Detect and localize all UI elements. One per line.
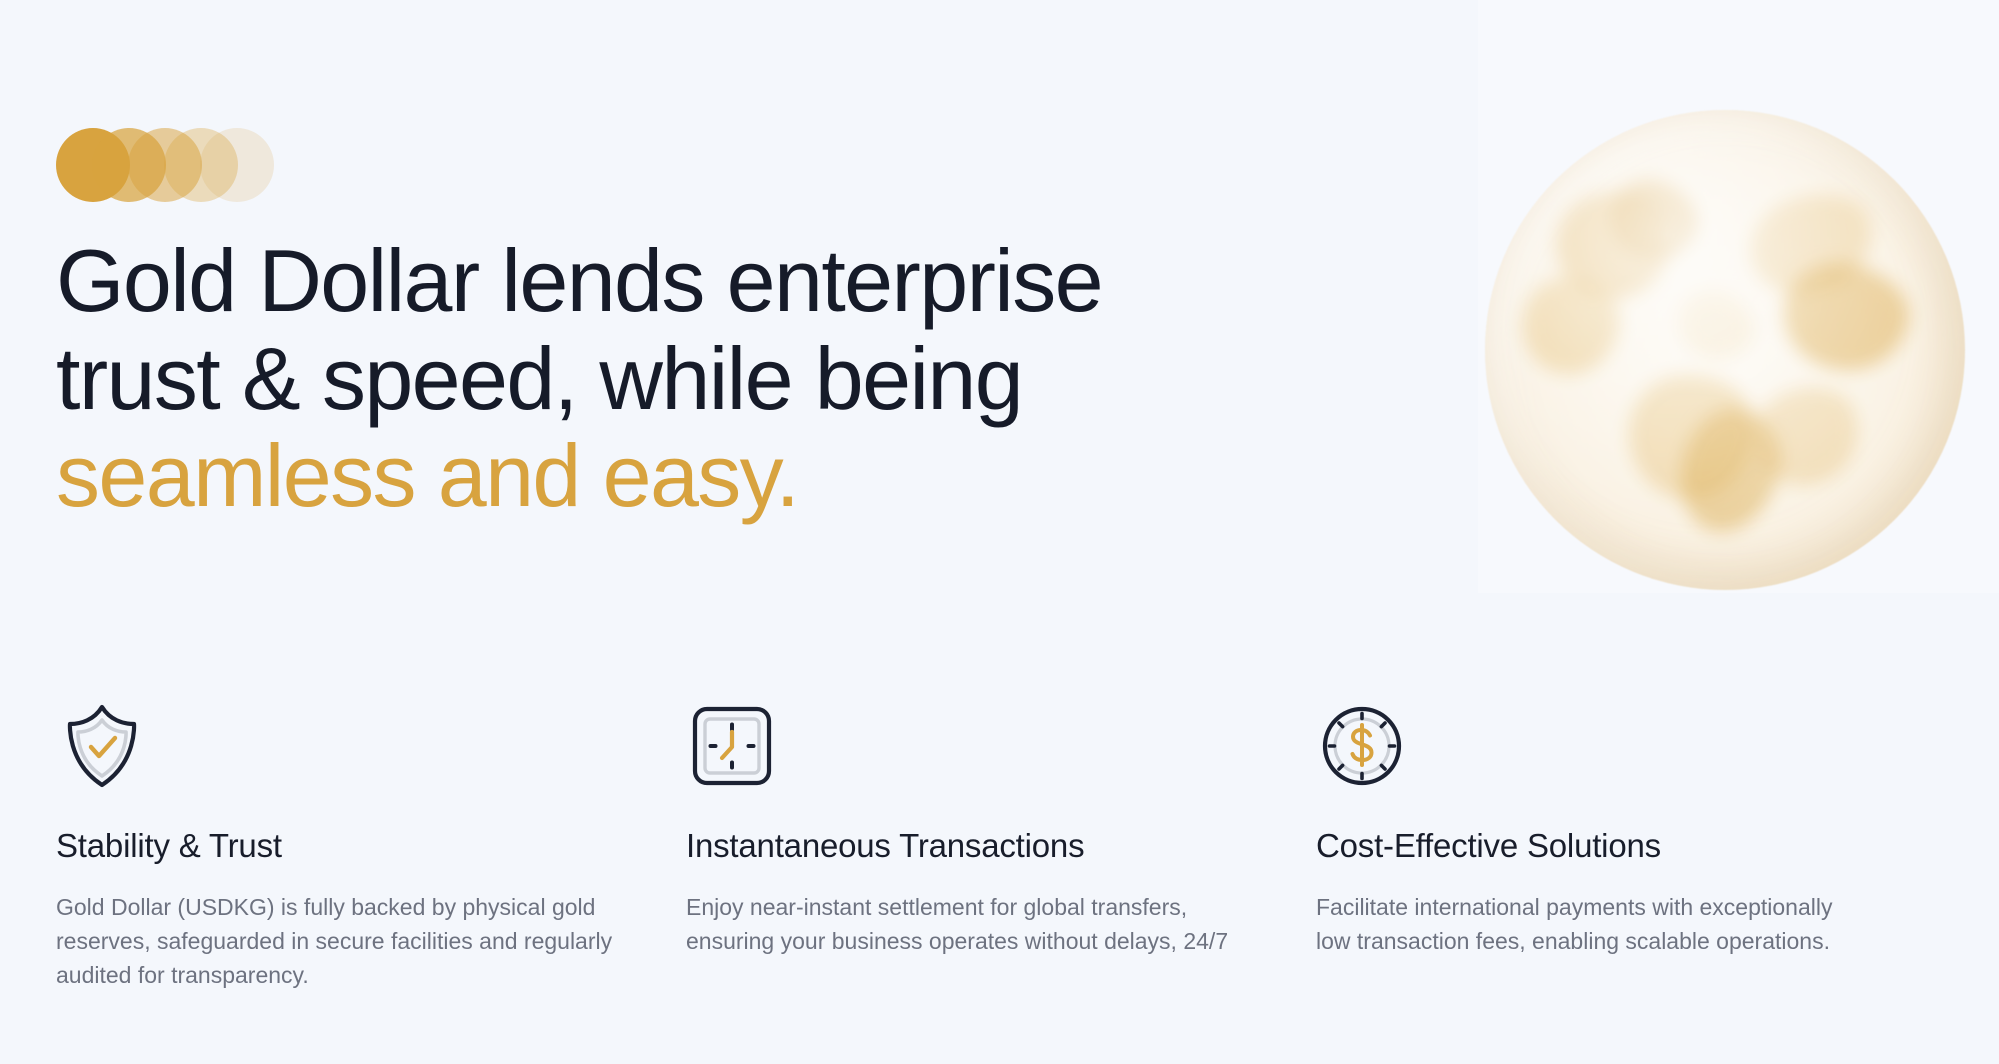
globe-icon (1485, 110, 1965, 590)
page-root: Gold Dollar lends enterprise trust & spe… (0, 0, 1999, 1064)
feature-card-transactions: Instantaneous Transactions Enjoy near-in… (686, 700, 1316, 992)
feature-row: Stability & Trust Gold Dollar (USDKG) is… (56, 700, 1946, 992)
headline-accent-line: seamless and easy. (56, 426, 798, 525)
hero-section: Gold Dollar lends enterprise trust & spe… (0, 0, 1999, 640)
feature-title: Stability & Trust (56, 826, 686, 866)
feature-description: Facilitate international payments with e… (1316, 890, 1871, 958)
feature-card-stability: Stability & Trust Gold Dollar (USDKG) is… (56, 700, 686, 992)
headline-line-2: trust & speed, while being (56, 329, 1022, 428)
feature-description: Gold Dollar (USDKG) is fully backed by p… (56, 890, 636, 992)
feature-description: Enjoy near-instant settlement for global… (686, 890, 1231, 958)
feature-title: Instantaneous Transactions (686, 826, 1316, 866)
gold-dot-cluster (56, 128, 286, 202)
feature-title: Cost-Effective Solutions (1316, 826, 1946, 866)
hero-headline: Gold Dollar lends enterprise trust & spe… (56, 232, 1456, 525)
clock-square-icon (686, 700, 778, 792)
globe-edge-shading (1485, 110, 1965, 590)
headline-line-1: Gold Dollar lends enterprise (56, 231, 1102, 330)
dollar-coin-icon (1316, 700, 1408, 792)
feature-card-cost: Cost-Effective Solutions Facilitate inte… (1316, 700, 1946, 992)
shield-check-icon (56, 700, 148, 792)
gold-dot-5 (200, 128, 274, 202)
globe-image-frame (1478, 0, 1999, 593)
